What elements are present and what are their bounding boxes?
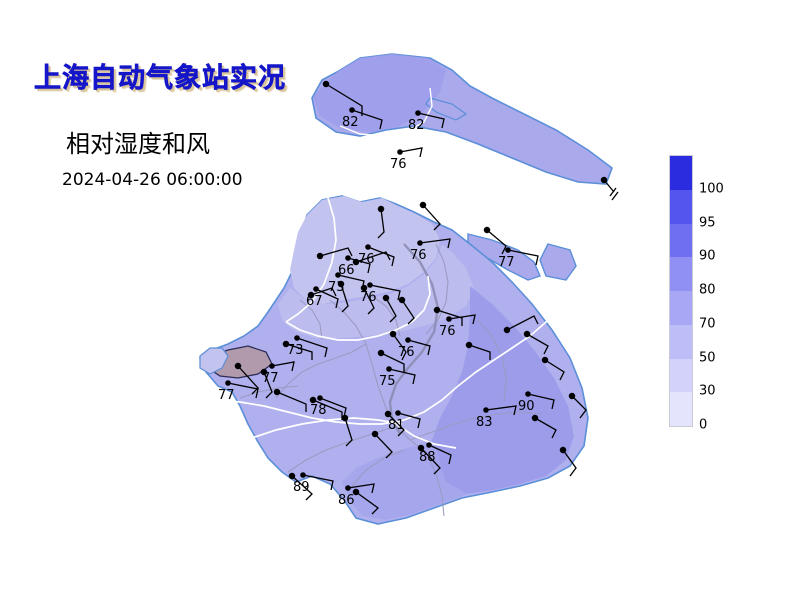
weather-map-canvas: 上海自动气象站实况 相对湿度和风 2024-04-26 06:00:00 — [0, 0, 800, 600]
legend-label-95: 95 — [699, 215, 716, 230]
station-value: 76 — [358, 252, 375, 267]
legend-band-50 — [670, 325, 692, 359]
station-marker: 76 — [390, 148, 422, 172]
legend-label-50: 50 — [699, 350, 716, 365]
legend-label-70: 70 — [699, 316, 716, 331]
legend-label-0: 0 — [699, 418, 707, 433]
station-value: 86 — [338, 493, 355, 508]
wind-barb — [400, 148, 422, 157]
legend-band-70 — [670, 291, 692, 325]
station-value: 76 — [439, 324, 456, 339]
shanghai-mainland — [200, 196, 588, 524]
station-value: 90 — [518, 399, 535, 414]
legend-band-100 — [670, 156, 692, 190]
legend-band-80 — [670, 257, 692, 291]
legend-label-100: 100 — [699, 181, 724, 196]
legend-label-80: 80 — [699, 283, 716, 298]
station-value: 81 — [388, 418, 405, 433]
station-value: 75 — [379, 374, 396, 389]
legend-label-30: 30 — [699, 384, 716, 399]
station-value: 88 — [419, 450, 436, 465]
station-value: 77 — [218, 388, 235, 403]
legend-label-90: 90 — [699, 249, 716, 264]
legend-band-0 — [670, 392, 692, 426]
station-value: 76 — [390, 157, 407, 172]
station-value: 76 — [410, 248, 427, 263]
station-value: 82 — [342, 115, 359, 130]
station-value: 77 — [498, 255, 515, 270]
color-legend[interactable] — [669, 155, 693, 427]
legend-band-95 — [670, 190, 692, 224]
station-value: 82 — [408, 118, 425, 133]
legend-band-90 — [670, 224, 692, 258]
station-value: 83 — [476, 415, 493, 430]
station-value: 89 — [293, 480, 310, 495]
legend-band-30 — [670, 359, 692, 393]
